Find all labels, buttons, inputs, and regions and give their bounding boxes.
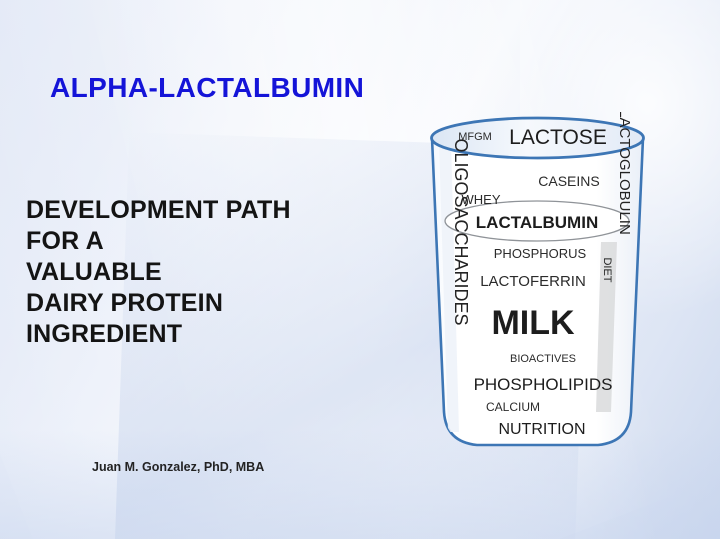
word-calcium: CALCIUM — [486, 400, 540, 414]
word-bioactives: BIOACTIVES — [510, 353, 576, 365]
subtitle-line: INGREDIENT — [26, 319, 416, 350]
milk-glass-graphic: MFGM LACTOSE CASEINS WHEY LACTALBUMIN PH… — [415, 112, 660, 452]
slide-title: ALPHA-LACTALBUMIN — [50, 72, 364, 104]
author-byline: Juan M. Gonzalez, PhD, MBA — [92, 460, 264, 474]
subtitle-line: FOR A — [26, 226, 416, 257]
subtitle-line: DAIRY PROTEIN — [26, 288, 416, 319]
word-diet: DIET — [601, 257, 613, 282]
word-lactoferrin: LACTOFERRIN — [480, 273, 586, 290]
word-nutrition: NUTRITION — [498, 421, 585, 438]
word-oligosaccharides: OLIGOSACCHARIDES — [451, 138, 471, 325]
presentation-slide: ALPHA-LACTALBUMIN DEVELOPMENT PATH FOR A… — [0, 0, 720, 539]
word-phosphorus: PHOSPHORUS — [494, 246, 587, 261]
word-caseins: CASEINS — [538, 173, 599, 189]
subtitle-line: VALUABLE — [26, 257, 416, 288]
word-phospholipids: PHOSPHOLIPIDS — [474, 375, 613, 394]
subtitle-line: DEVELOPMENT PATH — [26, 195, 416, 226]
word-lactalbumin: LACTALBUMIN — [476, 213, 598, 232]
word-milk: MILK — [491, 304, 575, 342]
word-lactoglobulin: LACTOGLOBULIN — [616, 112, 633, 235]
word-lactose: LACTOSE — [509, 126, 607, 149]
slide-subtitle: DEVELOPMENT PATH FOR A VALUABLE DAIRY PR… — [26, 195, 416, 350]
